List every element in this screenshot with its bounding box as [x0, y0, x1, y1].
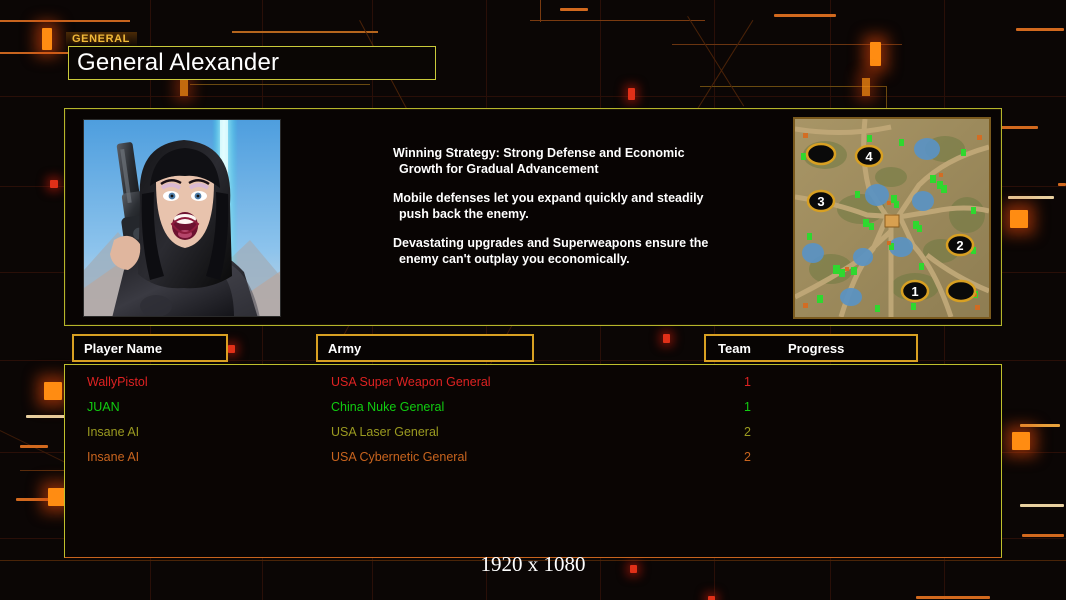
- column-header-player-name-label: Player Name: [74, 341, 162, 356]
- strategy-line-3: Devastating upgrades and Superweapons en…: [393, 235, 723, 267]
- table-row[interactable]: Insane AI USA Laser General 2: [65, 421, 1001, 446]
- general-info-panel: Winning Strategy: Strong Defense and Eco…: [64, 108, 1002, 326]
- column-header-progress-label: Progress: [788, 341, 844, 356]
- table-row[interactable]: Insane AI USA Cybernetic General 2: [65, 446, 1001, 471]
- player-army: USA Cybernetic General: [331, 450, 467, 464]
- player-army: USA Laser General: [331, 425, 439, 439]
- player-list: Player Name Army Team Progress WallyPist…: [64, 334, 1002, 558]
- svg-text:3: 3: [817, 194, 824, 209]
- player-team: 1: [731, 400, 751, 414]
- player-army: USA Super Weapon General: [331, 375, 491, 389]
- table-row[interactable]: WallyPistol USA Super Weapon General 1: [65, 371, 1001, 396]
- player-name: JUAN: [87, 400, 120, 414]
- strategy-line-1: Winning Strategy: Strong Defense and Eco…: [393, 145, 723, 177]
- general-name-box: General Alexander: [68, 46, 436, 80]
- general-category-label: GENERAL: [66, 32, 137, 47]
- player-rows-panel: WallyPistol USA Super Weapon General 1 J…: [64, 364, 1002, 558]
- table-row[interactable]: JUAN China Nuke General 1: [65, 396, 1001, 421]
- general-name: General Alexander: [69, 49, 279, 77]
- screen: GENERAL General Alexander: [0, 0, 1066, 600]
- player-progress: [801, 402, 987, 415]
- column-header-army-label: Army: [318, 341, 361, 356]
- column-header-team-progress: Team Progress: [704, 334, 918, 362]
- player-name: Insane AI: [87, 425, 139, 439]
- strategy-line-2: Mobile defenses let you expand quickly a…: [393, 190, 723, 222]
- player-team: 2: [731, 425, 751, 439]
- strategy-description: Winning Strategy: Strong Defense and Eco…: [393, 145, 723, 267]
- resolution-label: 1920 x 1080: [0, 552, 1066, 577]
- player-team: 2: [731, 450, 751, 464]
- general-portrait: [83, 119, 281, 317]
- svg-text:4: 4: [865, 149, 873, 164]
- svg-text:2: 2: [956, 238, 963, 253]
- svg-text:1: 1: [911, 284, 918, 299]
- column-header-army: Army: [316, 334, 534, 362]
- column-header-team-label: Team: [706, 341, 788, 356]
- player-name: WallyPistol: [87, 375, 148, 389]
- player-army: China Nuke General: [331, 400, 444, 414]
- player-name: Insane AI: [87, 450, 139, 464]
- column-header-player-name: Player Name: [72, 334, 228, 362]
- map-preview: 4 3 2 1: [793, 117, 991, 319]
- player-progress: [801, 377, 987, 390]
- player-team: 1: [731, 375, 751, 389]
